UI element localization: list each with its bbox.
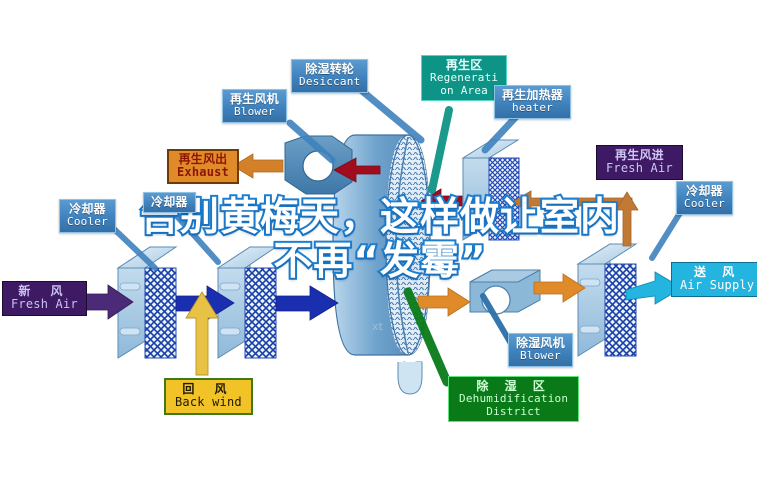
condensate-drain bbox=[398, 362, 422, 394]
label-cooler-left-2-cn: 冷却器 bbox=[151, 196, 188, 209]
label-regeneration-fresh-air-cn: 再生风进 bbox=[606, 149, 673, 162]
label-exhaust[interactable]: 再生风出 Exhaust bbox=[167, 149, 239, 184]
label-back-wind[interactable]: 回 风 Back wind bbox=[164, 378, 253, 415]
label-exhaust-en: Exhaust bbox=[177, 166, 229, 179]
label-regeneration-fresh-air[interactable]: 再生风进 Fresh Air bbox=[596, 145, 683, 180]
label-regeneration-heater[interactable]: 再生加热器 heater bbox=[494, 85, 571, 119]
label-air-supply[interactable]: 送 风 Air Supply bbox=[671, 262, 757, 297]
label-dehumidification-district[interactable]: 除 湿 区 Dehumidification District bbox=[448, 376, 579, 422]
label-desiccant-rotor-cn: 除湿转轮 bbox=[299, 63, 360, 76]
label-regeneration-fresh-air-en: Fresh Air bbox=[606, 162, 673, 175]
label-regeneration-blower-cn: 再生风机 bbox=[230, 93, 279, 106]
label-air-supply-cn: 送 风 bbox=[680, 266, 754, 279]
label-cooler-left-1[interactable]: 冷却器 Cooler bbox=[59, 199, 116, 233]
label-cooler-right[interactable]: 冷却器 Cooler bbox=[676, 181, 733, 215]
label-regeneration-area-en-2: on Area bbox=[430, 85, 498, 97]
headline-line-2: 不再“发霉” bbox=[70, 240, 690, 284]
exhaust-arrow bbox=[233, 154, 283, 178]
label-regeneration-blower[interactable]: 再生风机 Blower bbox=[222, 89, 287, 123]
label-regeneration-area-cn: 再生区 bbox=[430, 59, 498, 72]
label-dehumidification-district-en-2: District bbox=[459, 406, 568, 418]
label-desiccant-rotor[interactable]: 除湿转轮 Desiccant bbox=[291, 59, 368, 93]
diagram-canvas: xt bbox=[0, 0, 757, 488]
label-cooler-right-cn: 冷却器 bbox=[684, 185, 725, 198]
label-dehumidification-blower-en: Blower bbox=[516, 350, 565, 362]
label-fresh-air-en: Fresh Air bbox=[11, 298, 78, 311]
label-cooler-left-2[interactable]: 冷却器 bbox=[143, 192, 196, 213]
label-cooler-right-en: Cooler bbox=[684, 198, 725, 210]
label-back-wind-en: Back wind bbox=[175, 396, 242, 409]
label-dehumidification-blower[interactable]: 除湿风机 Blower bbox=[508, 333, 573, 367]
label-back-wind-cn: 回 风 bbox=[175, 383, 242, 396]
label-dehumidification-district-en-1: Dehumidification bbox=[459, 393, 568, 405]
label-regeneration-heater-cn: 再生加热器 bbox=[502, 89, 563, 102]
label-dehumidification-district-cn: 除 湿 区 bbox=[459, 380, 568, 393]
label-regeneration-area-en-1: Regenerati bbox=[430, 72, 498, 84]
cooler2-out-arrow bbox=[276, 286, 338, 320]
label-exhaust-cn: 再生风出 bbox=[177, 153, 229, 166]
label-regeneration-heater-en: heater bbox=[502, 102, 563, 114]
label-fresh-air-cn: 新 风 bbox=[11, 285, 78, 298]
label-regeneration-blower-en: Blower bbox=[230, 106, 279, 118]
label-air-supply-en: Air Supply bbox=[680, 279, 754, 292]
label-fresh-air[interactable]: 新 风 Fresh Air bbox=[2, 281, 87, 316]
headline-line-1: 告别黄梅天，这样做让室内 bbox=[140, 195, 620, 240]
label-desiccant-rotor-en: Desiccant bbox=[299, 76, 360, 88]
svg-text:xt: xt bbox=[372, 320, 384, 333]
label-cooler-left-1-en: Cooler bbox=[67, 216, 108, 228]
label-cooler-left-1-cn: 冷却器 bbox=[67, 203, 108, 216]
label-dehumidification-blower-cn: 除湿风机 bbox=[516, 337, 565, 350]
